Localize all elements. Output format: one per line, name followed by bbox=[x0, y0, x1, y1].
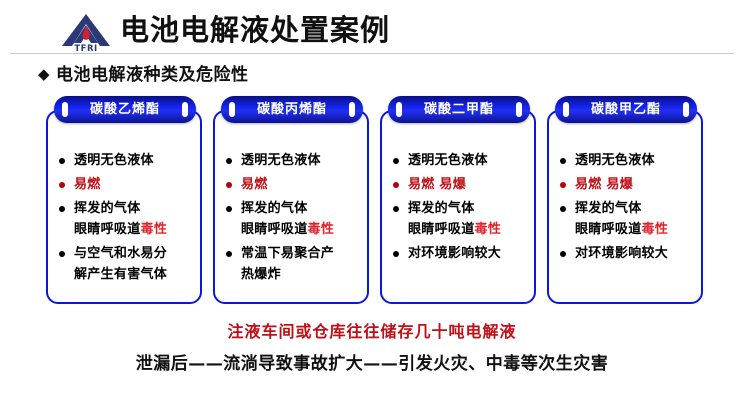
list-item-text: 易燃 易爆 bbox=[575, 177, 633, 192]
list-item-text: 易燃 bbox=[241, 177, 268, 192]
list-item: 挥发的气体眼睛呼吸道毒性 bbox=[224, 198, 361, 240]
list-item-text: 透明无色液体 bbox=[575, 153, 655, 168]
chemical-card[interactable]: 透明无色液体 易燃 挥发的气体眼睛呼吸道毒性 与空气和水易分解产生有害气体 碳酸… bbox=[46, 96, 206, 308]
list-item-subtext: 热爆炸 bbox=[241, 264, 361, 285]
list-item-subtext: 眼睛呼吸道毒性 bbox=[74, 219, 194, 240]
card-body: 透明无色液体 易燃 挥发的气体眼睛呼吸道毒性 常温下易聚合产热爆炸 bbox=[213, 110, 369, 304]
bullet-dot-icon bbox=[59, 251, 65, 257]
svg-text:TFRI: TFRI bbox=[74, 44, 97, 52]
list-item: 常温下易聚合产热爆炸 bbox=[224, 243, 361, 285]
card-title: 碳酸二甲酯 bbox=[388, 96, 530, 123]
card-header: 碳酸丙烯酯 bbox=[221, 96, 363, 123]
footer-warning-text: 注液车间或仓库往往储存几十吨电解液 bbox=[0, 318, 744, 342]
page-title: 电池电解液处置案例 bbox=[120, 10, 390, 50]
slide-title-bar: TFRI 电池电解液处置案例 bbox=[0, 8, 744, 50]
section-heading-label: 电池电解液种类及危险性 bbox=[56, 65, 249, 85]
bullet-dot-icon bbox=[59, 182, 65, 188]
chemical-card[interactable]: 透明无色液体 易燃 易爆 挥发的气体眼睛呼吸道毒性 对环境影响较大 碳酸甲乙酯 bbox=[547, 96, 707, 308]
list-item-subtext-plain: 热爆炸 bbox=[241, 267, 281, 282]
list-item: 易燃 易爆 bbox=[558, 174, 695, 195]
card-title: 碳酸乙烯酯 bbox=[54, 96, 196, 123]
toxicity-label: 毒性 bbox=[308, 222, 335, 237]
list-item: 易燃 易爆 bbox=[391, 174, 528, 195]
list-item: 挥发的气体眼睛呼吸道毒性 bbox=[391, 198, 528, 240]
bullet-dot-icon bbox=[393, 158, 399, 164]
toxicity-label: 毒性 bbox=[141, 222, 168, 237]
list-item-text: 透明无色液体 bbox=[241, 153, 321, 168]
hazard-list: 透明无色液体 易燃 挥发的气体眼睛呼吸道毒性 常温下易聚合产热爆炸 bbox=[224, 150, 361, 288]
list-item: 易燃 bbox=[224, 174, 361, 195]
hazard-list: 透明无色液体 易燃 挥发的气体眼睛呼吸道毒性 与空气和水易分解产生有害气体 bbox=[57, 150, 194, 288]
list-item: 透明无色液体 bbox=[57, 150, 194, 171]
section-heading: ◆电池电解液种类及危险性 bbox=[38, 60, 249, 85]
list-item: 透明无色液体 bbox=[391, 150, 528, 171]
list-item-subtext-plain: 眼睛呼吸道 bbox=[575, 222, 642, 237]
bullet-dot-icon bbox=[560, 182, 566, 188]
slide-canvas: TFRI 电池电解液处置案例 ◆电池电解液种类及危险性 透明无色液体 易燃 挥发… bbox=[0, 0, 744, 419]
chemical-card[interactable]: 透明无色液体 易燃 易爆 挥发的气体眼睛呼吸道毒性 对环境影响较大 碳酸二甲酯 bbox=[380, 96, 540, 308]
card-body: 透明无色液体 易燃 易爆 挥发的气体眼睛呼吸道毒性 对环境影响较大 bbox=[380, 110, 536, 304]
toxicity-label: 毒性 bbox=[475, 222, 502, 237]
card-title: 碳酸丙烯酯 bbox=[221, 96, 363, 123]
list-item: 透明无色液体 bbox=[224, 150, 361, 171]
card-body: 透明无色液体 易燃 易爆 挥发的气体眼睛呼吸道毒性 对环境影响较大 bbox=[547, 110, 703, 304]
list-item: 对环境影响较大 bbox=[558, 243, 695, 264]
bullet-dot-icon bbox=[393, 206, 399, 212]
hazard-list: 透明无色液体 易燃 易爆 挥发的气体眼睛呼吸道毒性 对环境影响较大 bbox=[391, 150, 528, 267]
card-header: 碳酸乙烯酯 bbox=[54, 96, 196, 123]
list-item: 挥发的气体眼睛呼吸道毒性 bbox=[558, 198, 695, 240]
list-item-text: 透明无色液体 bbox=[74, 153, 154, 168]
toxicity-label: 毒性 bbox=[642, 222, 669, 237]
list-item: 对环境影响较大 bbox=[391, 243, 528, 264]
list-item-subtext-plain: 眼睛呼吸道 bbox=[241, 222, 308, 237]
list-item-text: 挥发的气体 bbox=[74, 201, 141, 216]
list-item-text: 挥发的气体 bbox=[408, 201, 475, 216]
list-item-text: 常温下易聚合产 bbox=[241, 246, 334, 261]
list-item-subtext: 眼睛呼吸道毒性 bbox=[408, 219, 528, 240]
diamond-bullet-icon: ◆ bbox=[38, 65, 50, 83]
chemical-cards-row: 透明无色液体 易燃 挥发的气体眼睛呼吸道毒性 与空气和水易分解产生有害气体 碳酸… bbox=[46, 96, 708, 308]
list-item-subtext: 眼睛呼吸道毒性 bbox=[575, 219, 695, 240]
bullet-dot-icon bbox=[393, 251, 399, 257]
bullet-dot-icon bbox=[560, 251, 566, 257]
list-item-text: 易燃 易爆 bbox=[408, 177, 466, 192]
hazard-list: 透明无色液体 易燃 易爆 挥发的气体眼睛呼吸道毒性 对环境影响较大 bbox=[558, 150, 695, 267]
bullet-dot-icon bbox=[59, 206, 65, 212]
bullet-dot-icon bbox=[59, 158, 65, 164]
bullet-dot-icon bbox=[226, 158, 232, 164]
card-header: 碳酸二甲酯 bbox=[388, 96, 530, 123]
card-body: 透明无色液体 易燃 挥发的气体眼睛呼吸道毒性 与空气和水易分解产生有害气体 bbox=[46, 110, 202, 304]
list-item-text: 与空气和水易分 bbox=[74, 246, 167, 261]
tfri-logo-icon: TFRI bbox=[58, 12, 114, 52]
list-item-subtext-plain: 眼睛呼吸道 bbox=[74, 222, 141, 237]
list-item-subtext-plain: 解产生有害气体 bbox=[74, 267, 167, 282]
list-item: 易燃 bbox=[57, 174, 194, 195]
footer-note-text: 泄漏后——流淌导致事故扩大——引发火灾、中毒等次生灾害 bbox=[0, 349, 744, 374]
list-item-text: 透明无色液体 bbox=[408, 153, 488, 168]
card-header: 碳酸甲乙酯 bbox=[555, 96, 697, 123]
list-item-text: 挥发的气体 bbox=[241, 201, 308, 216]
list-item: 透明无色液体 bbox=[558, 150, 695, 171]
bullet-dot-icon bbox=[226, 251, 232, 257]
bullet-dot-icon bbox=[560, 158, 566, 164]
bullet-dot-icon bbox=[393, 182, 399, 188]
list-item-text: 易燃 bbox=[74, 177, 101, 192]
bullet-dot-icon bbox=[560, 206, 566, 212]
list-item: 与空气和水易分解产生有害气体 bbox=[57, 243, 194, 285]
chemical-card[interactable]: 透明无色液体 易燃 挥发的气体眼睛呼吸道毒性 常温下易聚合产热爆炸 碳酸丙烯酯 bbox=[213, 96, 373, 308]
list-item: 挥发的气体眼睛呼吸道毒性 bbox=[57, 198, 194, 240]
list-item-text: 对环境影响较大 bbox=[575, 246, 668, 261]
list-item-subtext-plain: 眼睛呼吸道 bbox=[408, 222, 475, 237]
title-divider bbox=[10, 53, 734, 54]
bullet-dot-icon bbox=[226, 206, 232, 212]
bullet-dot-icon bbox=[226, 182, 232, 188]
list-item-subtext: 解产生有害气体 bbox=[74, 264, 194, 285]
list-item-text: 挥发的气体 bbox=[575, 201, 642, 216]
list-item-text: 对环境影响较大 bbox=[408, 246, 501, 261]
card-title: 碳酸甲乙酯 bbox=[555, 96, 697, 123]
list-item-subtext: 眼睛呼吸道毒性 bbox=[241, 219, 361, 240]
